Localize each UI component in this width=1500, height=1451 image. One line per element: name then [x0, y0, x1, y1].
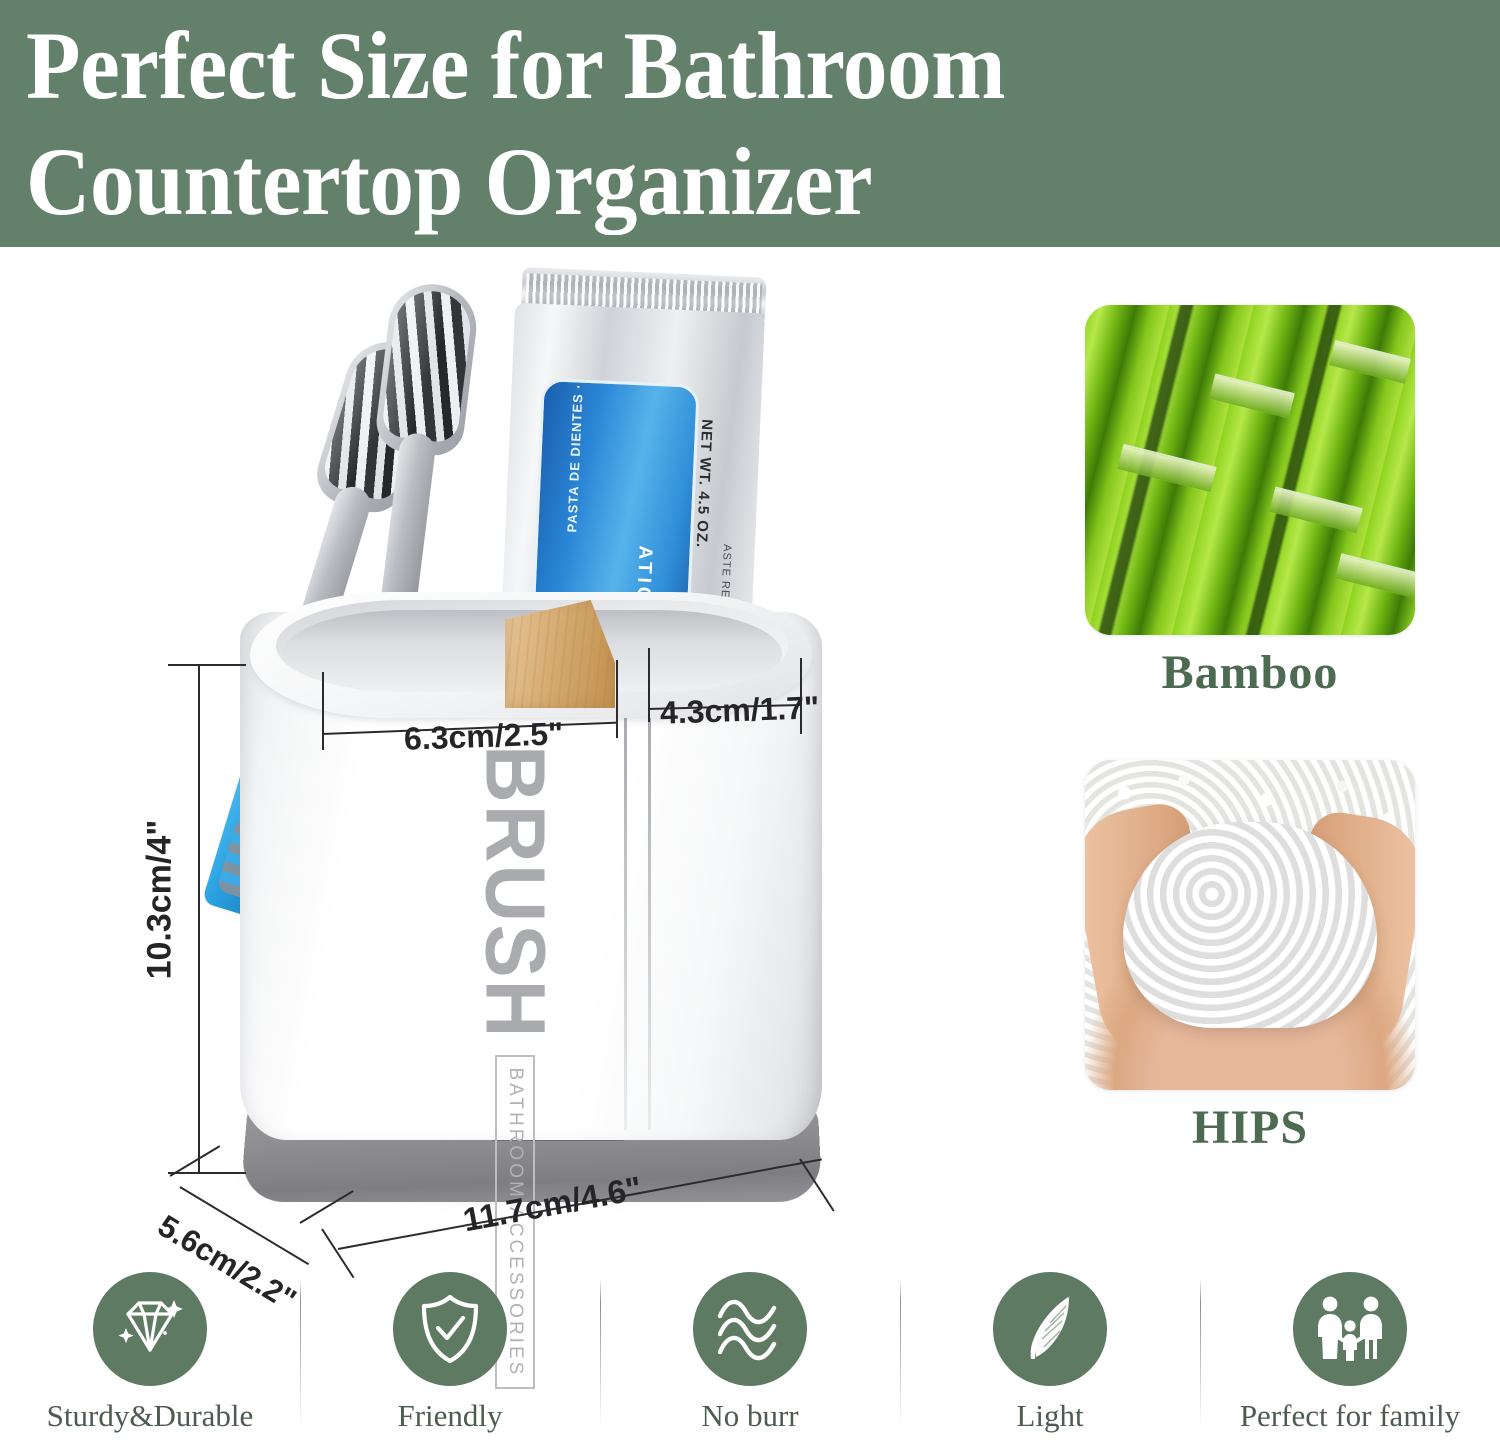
pellet-pile: [1123, 822, 1377, 1028]
feature-no-burr: No burr: [600, 1272, 900, 1451]
holder-seam-2: [648, 702, 651, 1130]
feature-label: Light: [1016, 1398, 1083, 1434]
feature-icon-circle: [693, 1272, 807, 1386]
feature-friendly: Friendly: [300, 1272, 600, 1451]
infographic-page: Perfect Size for Bathroom Countertop Org…: [0, 0, 1500, 1451]
material-label-bamboo: Bamboo: [1085, 645, 1415, 700]
feature-icon-circle: [393, 1272, 507, 1386]
material-card-hips: HIPS: [1085, 760, 1415, 1155]
brand-mark: BRUSH BATHROOM ACCESSORIES: [455, 745, 575, 1045]
dim-label-side-width: 4.3cm/1.7": [659, 689, 819, 732]
feature-label: Sturdy&Durable: [47, 1398, 254, 1434]
feature-perfect-for-family: Perfect for family: [1200, 1272, 1500, 1451]
dim-tick-h2: [168, 1172, 246, 1174]
feature-row: Sturdy&Durable Friendly: [0, 1272, 1500, 1451]
feature-light: Light: [900, 1272, 1200, 1451]
feature-sturdy-durable: Sturdy&Durable: [0, 1272, 300, 1451]
dim-label-height: 10.3cm/4": [141, 730, 180, 1070]
family-icon: [1311, 1293, 1389, 1365]
feather-icon: [1015, 1291, 1085, 1367]
feature-icon-circle: [1293, 1272, 1407, 1386]
waves-icon: [712, 1294, 788, 1364]
brand-word: BRUSH: [473, 745, 558, 1039]
feature-label: No burr: [701, 1398, 798, 1434]
holder-seam-1: [624, 700, 627, 1130]
header-banner: Perfect Size for Bathroom Countertop Org…: [0, 0, 1500, 247]
dim-label-front-width: 6.3cm/2.5": [403, 715, 563, 758]
hips-photo: [1085, 760, 1415, 1090]
tube-languages-text: PASTA DE DIENTES · ZAHNPASTA · PASTA DE …: [564, 378, 596, 533]
feature-label: Friendly: [397, 1398, 502, 1434]
dim-tick-a1: [322, 672, 324, 750]
shield-check-icon: [415, 1292, 485, 1366]
page-title: Perfect Size for Bathroom Countertop Org…: [26, 8, 1373, 240]
dim-tick-h1: [168, 664, 246, 666]
material-card-bamboo: Bamboo: [1085, 305, 1415, 700]
feature-icon-circle: [93, 1272, 207, 1386]
bamboo-photo: [1085, 305, 1415, 635]
feature-icon-circle: [993, 1272, 1107, 1386]
dim-tick-a2: [616, 660, 618, 738]
material-label-hips: HIPS: [1085, 1100, 1415, 1155]
dim-tick-b1: [648, 648, 650, 722]
diamond-icon: [113, 1292, 187, 1366]
dim-bar-height: [198, 664, 200, 1174]
feature-label: Perfect for family: [1240, 1398, 1460, 1434]
